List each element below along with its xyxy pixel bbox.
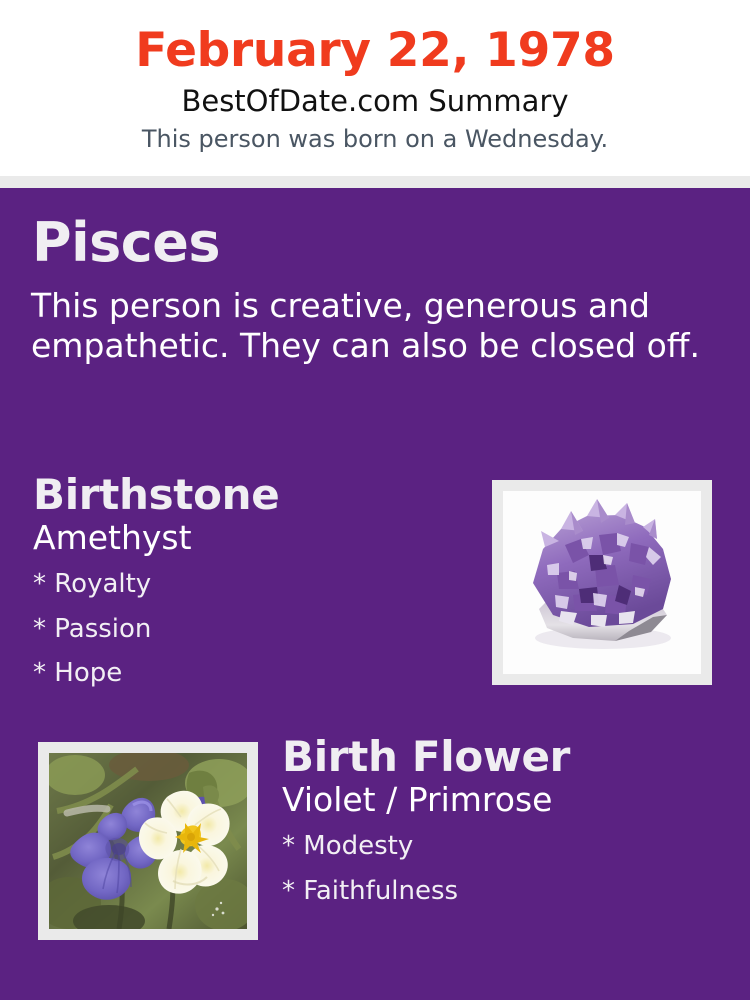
birth-flower-image — [49, 753, 247, 929]
zodiac-sign-name: Pisces — [32, 216, 220, 270]
list-item: * Royalty — [33, 562, 473, 607]
birthstone-trait-list: * Royalty * Passion * Hope — [33, 556, 473, 696]
site-summary-label: BestOfDate.com Summary — [0, 77, 750, 118]
birth-flower-name: Violet / Primrose — [282, 780, 732, 818]
birth-flower-image-frame — [38, 742, 258, 940]
birthstone-image-frame — [492, 480, 712, 685]
birthstone-section: Birthstone Amethyst * Royalty * Passion … — [33, 473, 473, 696]
birthday-summary-card: February 22, 1978 BestOfDate.com Summary… — [0, 0, 750, 1000]
violet-primrose-flowers-icon — [49, 753, 247, 929]
birth-flower-section: Birth Flower Violet / Primrose * Modesty… — [282, 735, 732, 913]
list-item: * Faithfulness — [282, 869, 732, 914]
list-item: * Passion — [33, 607, 473, 652]
birthstone-image — [503, 491, 701, 674]
header-divider — [0, 176, 750, 188]
birthstone-heading: Birthstone — [33, 473, 473, 518]
list-item: * Hope — [33, 651, 473, 696]
page-title: February 22, 1978 — [0, 0, 750, 77]
weekday-statement: This person was born on a Wednesday. — [0, 118, 750, 152]
list-item: * Modesty — [282, 824, 732, 869]
zodiac-description: This person is creative, generous and em… — [31, 286, 703, 366]
amethyst-crystal-icon — [503, 491, 701, 674]
birthstone-name: Amethyst — [33, 518, 473, 556]
birth-flower-trait-list: * Modesty * Faithfulness — [282, 818, 732, 913]
birth-flower-heading: Birth Flower — [282, 735, 732, 780]
header: February 22, 1978 BestOfDate.com Summary… — [0, 0, 750, 176]
